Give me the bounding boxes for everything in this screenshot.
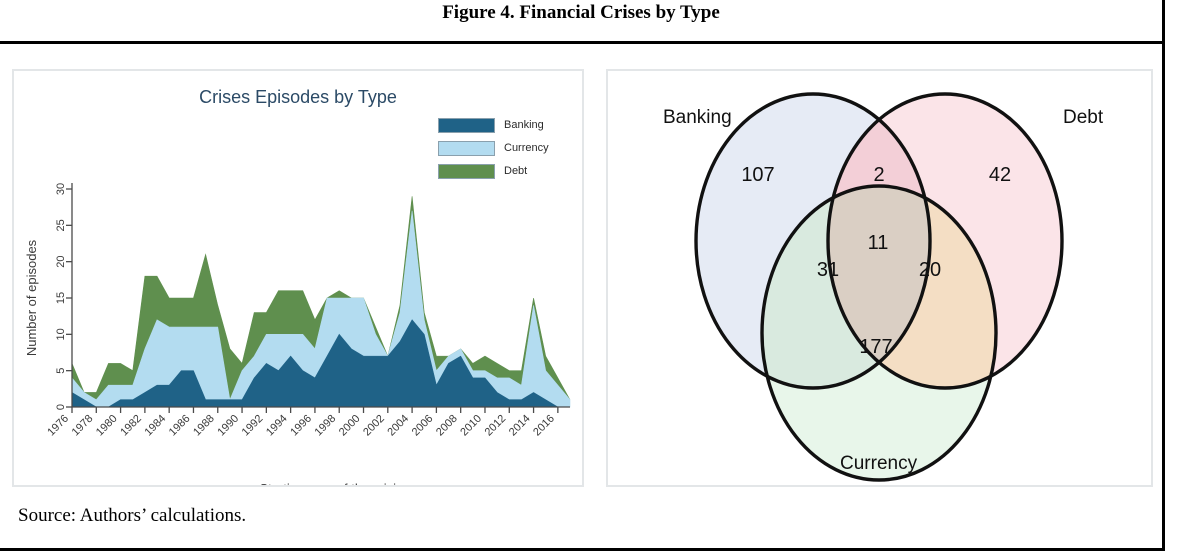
venn-count-debt-only: 42 (989, 164, 1011, 186)
figure-root: Figure 4. Financial Crises by Type Crise… (0, 0, 1192, 556)
x-tick-label: 1986 (167, 413, 193, 439)
venn-diagram-svg: Banking Debt Currency 107 2 42 11 31 20 … (608, 71, 1151, 485)
area-chart-plot: 0510152025301976197819801982198419861988… (14, 71, 582, 485)
x-tick-label: 2006 (410, 413, 436, 439)
x-tick-label: 1994 (264, 413, 290, 439)
y-axis-title: Number of episodes (24, 239, 39, 356)
x-tick-label: 1976 (45, 413, 71, 439)
y-tick-label: 5 (55, 368, 67, 374)
x-tick-label: 2004 (385, 413, 411, 439)
x-tick-label: 2010 (458, 413, 484, 439)
area-chart-svg: 0510152025301976197819801982198419861988… (14, 71, 582, 485)
venn-count-banking-debt: 2 (873, 164, 884, 186)
x-tick-label: 1996 (288, 413, 314, 439)
x-tick-label: 2012 (483, 413, 509, 439)
x-tick-label: 2016 (531, 413, 557, 439)
x-tick-label: 2000 (337, 413, 363, 439)
x-tick-label: 1982 (118, 413, 144, 439)
figure-title: Figure 4. Financial Crises by Type (0, 2, 1162, 24)
x-tick-label: 2008 (434, 413, 460, 439)
x-tick-label: 1990 (215, 413, 241, 439)
venn-count-debt-currency: 20 (919, 259, 941, 281)
x-tick-label: 1988 (191, 413, 217, 439)
y-tick-label: 15 (55, 292, 67, 304)
venn-panel: Banking Debt Currency 107 2 42 11 31 20 … (606, 69, 1153, 487)
y-tick-label: 10 (55, 328, 67, 340)
figure-top-rule (0, 41, 1165, 44)
venn-count-all-three: 11 (868, 232, 889, 254)
venn-count-banking-currency: 31 (817, 259, 839, 281)
venn-count-currency-only: 177 (859, 336, 892, 358)
venn-label-banking: Banking (663, 107, 732, 128)
x-tick-label: 2014 (507, 413, 533, 439)
left-chart-panel: Crises Episodes by Type Banking Currency… (12, 69, 584, 487)
figure-right-rule (1162, 0, 1165, 551)
x-tick-label: 1998 (313, 413, 339, 439)
x-tick-label: 1992 (240, 413, 266, 439)
venn-label-currency: Currency (840, 453, 918, 474)
y-tick-label: 0 (55, 404, 67, 410)
y-tick-label: 25 (55, 219, 67, 231)
x-tick-label: 1980 (94, 413, 120, 439)
source-note: Source: Authors’ calculations. (18, 505, 246, 527)
x-tick-label: 1978 (70, 413, 96, 439)
venn-label-debt: Debt (1063, 107, 1104, 128)
venn-count-banking-only: 107 (741, 164, 774, 186)
y-tick-label: 20 (55, 256, 67, 268)
x-axis-title: Starting year of the crisis (259, 481, 403, 485)
x-tick-label: 1984 (142, 413, 168, 439)
y-tick-label: 30 (55, 183, 67, 195)
figure-bottom-rule (0, 548, 1165, 551)
x-tick-label: 2002 (361, 413, 387, 439)
